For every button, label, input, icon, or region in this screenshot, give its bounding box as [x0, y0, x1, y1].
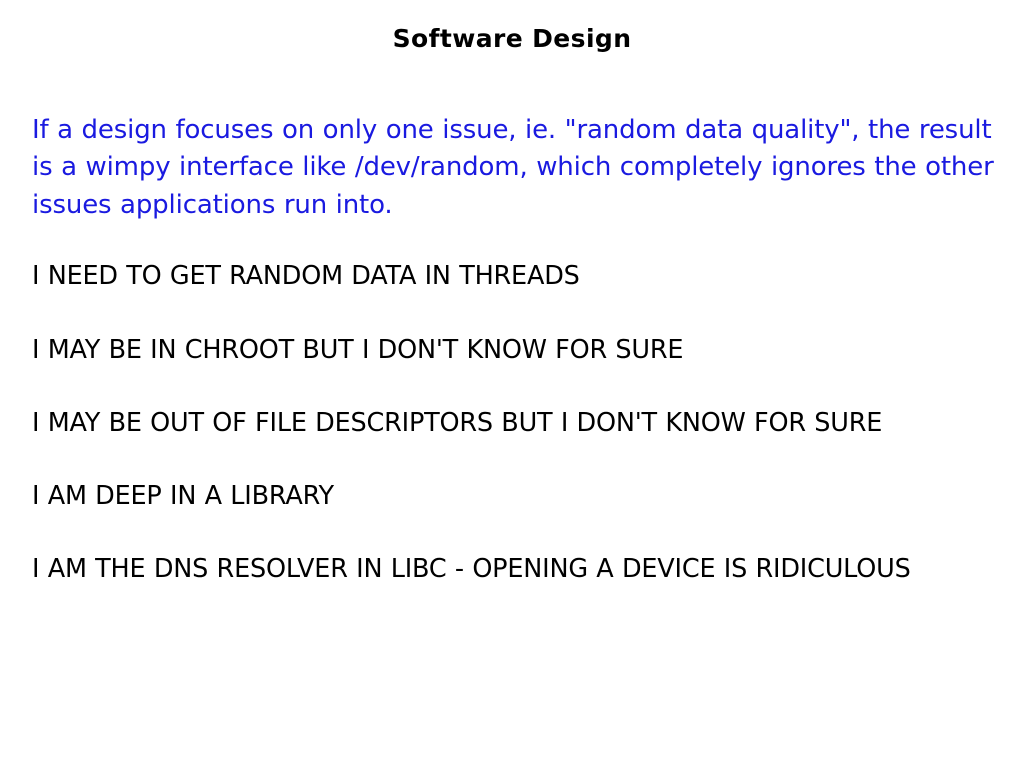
- statement-line-4: I AM DEEP IN A LIBRARY: [32, 478, 912, 514]
- intro-paragraph: If a design focuses on only one issue, i…: [32, 112, 1012, 224]
- slide-content: If a design focuses on only one issue, i…: [32, 112, 1012, 587]
- statement-line-3: I MAY BE OUT OF FILE DESCRIPTORS BUT I D…: [32, 405, 912, 441]
- statement-line-2: I MAY BE IN CHROOT BUT I DON'T KNOW FOR …: [32, 332, 912, 368]
- statement-line-1: I NEED TO GET RANDOM DATA IN THREADS: [32, 258, 912, 294]
- statement-line-5: I AM THE DNS RESOLVER IN LIBC - OPENING …: [32, 551, 912, 587]
- presentation-slide: Software Design If a design focuses on o…: [0, 0, 1024, 768]
- page-title: Software Design: [0, 24, 1024, 54]
